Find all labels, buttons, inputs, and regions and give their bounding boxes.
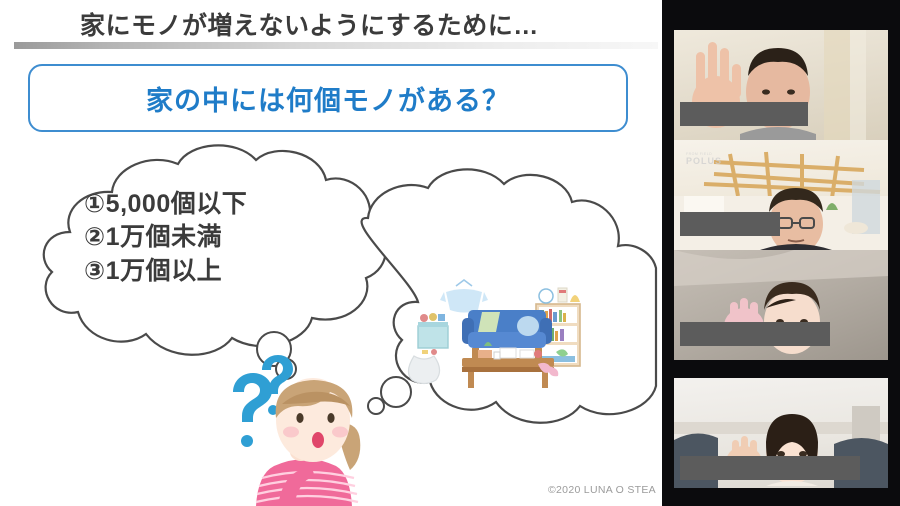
room-bubble-trail: [368, 377, 411, 414]
option-item-2: ②1万個未満: [84, 221, 247, 254]
name-redaction-bar: [680, 102, 808, 126]
option-item-1: ①5,000個以下: [84, 188, 247, 221]
video-tile-participant-3[interactable]: [674, 250, 888, 360]
video-tile-participant-1[interactable]: [674, 30, 888, 140]
options-list: ①5,000個以下 ②1万個未満 ③1万個以上: [84, 188, 247, 288]
video-tile-participant-4[interactable]: [674, 378, 888, 488]
polus-watermark: FROM FIELD POLUS: [686, 152, 722, 166]
thinking-woman-illustration: [256, 378, 360, 506]
screenshot-root: 家にモノが増えないようにするために… 家の中には何個モノがある？: [0, 0, 900, 506]
name-redaction-bar: [680, 456, 860, 480]
option-item-3: ③1万個以上: [84, 255, 247, 288]
trash-bag-icon: [408, 356, 439, 384]
presentation-slide: 家にモノが増えないようにするために… 家の中には何個モノがある？: [0, 0, 662, 506]
name-redaction-bar: [680, 212, 780, 236]
video-tile-participant-2[interactable]: FROM FIELD POLUS: [674, 140, 888, 250]
copyright-notice: ©2020 LUNA O STEA: [548, 484, 656, 496]
video-participant-rail: FROM FIELD POLUS: [662, 0, 900, 506]
name-redaction-bar: [680, 322, 830, 346]
